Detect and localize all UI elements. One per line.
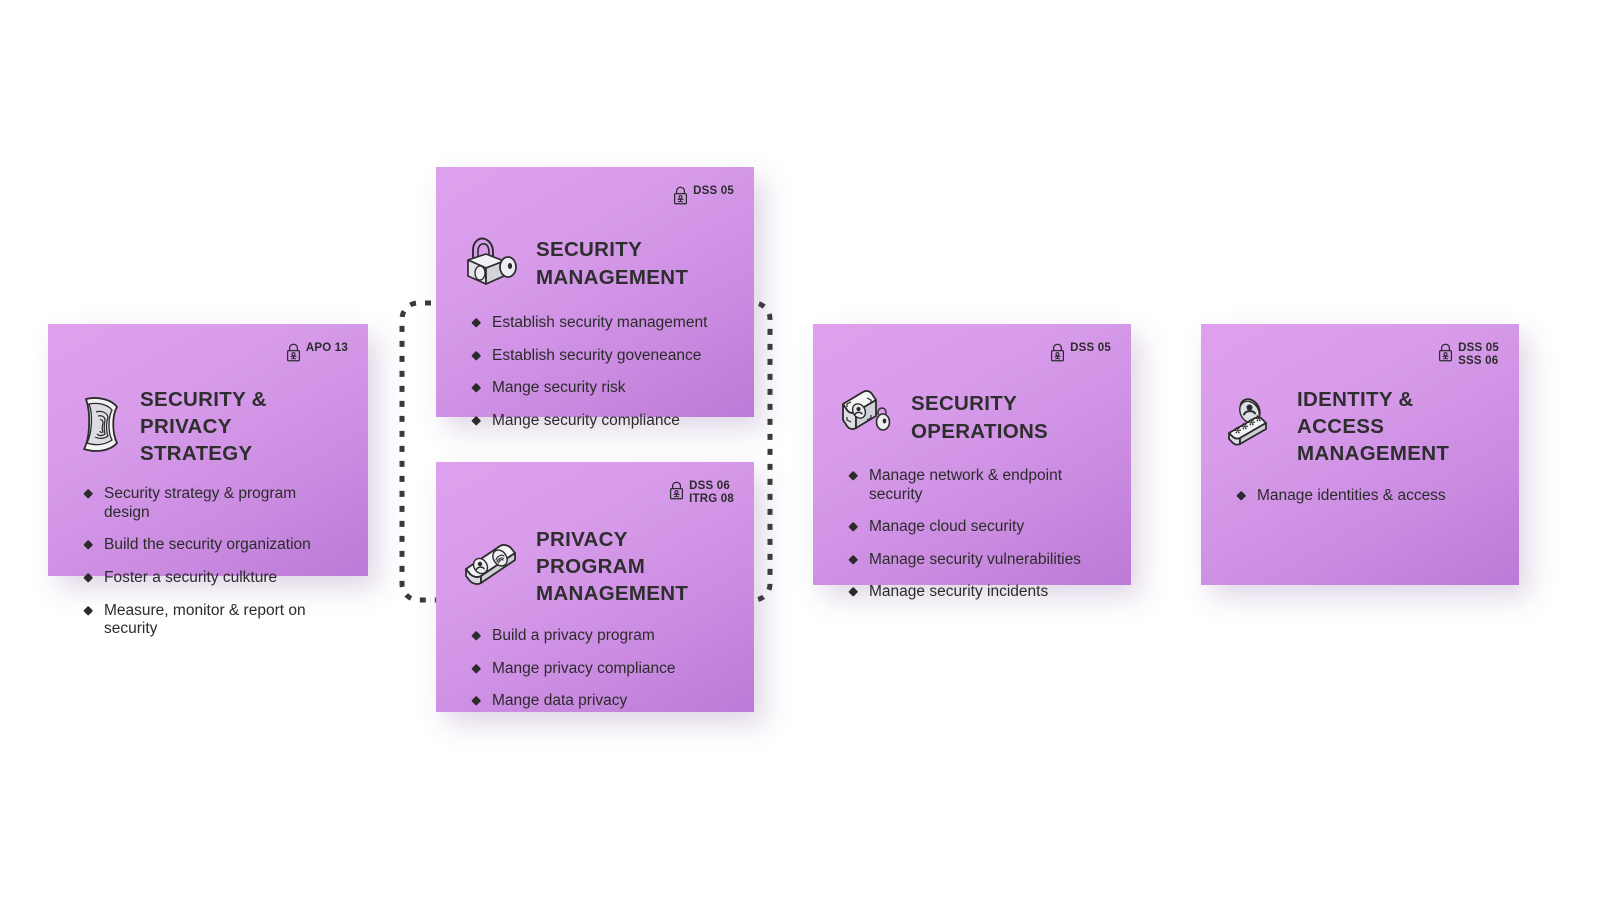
card-security-management[interactable]: DSS 05 SECURITY MANAGEMENT [436, 167, 754, 417]
badge-code: SSS 06 [1458, 355, 1499, 368]
badge-code: DSS 05 [1458, 342, 1499, 355]
list-item-label: Security strategy & program design [104, 485, 346, 522]
card-security-operations[interactable]: DSS 05 SECURITY O [813, 324, 1131, 585]
bullet-list: Build a privacy program Mange privacy co… [460, 627, 732, 725]
badge-code: DSS 05 [693, 185, 734, 198]
list-item-label: Mange data privacy [492, 692, 627, 711]
list-item-label: Mange security risk [492, 379, 626, 398]
bullet-diamond-icon [83, 605, 93, 615]
card-title: IDENTITY & ACCESS MANAGEMENT [1297, 386, 1497, 467]
card-header: ✻ ✻ ✻ ✻ IDENTITY & ACCESS MANAGEMENT [1225, 386, 1497, 467]
id-card-lock-icon [837, 386, 897, 449]
list-item: Manage network & endpoint security [837, 467, 1109, 504]
bullet-diamond-icon [471, 350, 481, 360]
card-header: PRIVACY PROGRAM MANAGEMENT [460, 526, 732, 607]
bullet-list: Security strategy & program design Build… [72, 485, 346, 653]
bullet-diamond-icon [471, 696, 481, 706]
bullet-diamond-icon [848, 587, 858, 597]
bullet-diamond-icon [1236, 491, 1246, 501]
list-item-label: Manage security vulnerabilities [869, 551, 1081, 570]
list-item: Manage security vulnerabilities [837, 551, 1109, 570]
badge-code-list: APO 13 [306, 342, 348, 355]
bullet-list: Manage network & endpoint security Manag… [837, 467, 1109, 616]
badge-security-privacy-strategy: APO 13 [286, 342, 348, 367]
card-title: PRIVACY PROGRAM MANAGEMENT [536, 526, 732, 607]
card-header: SECURITY OPERATIONS [837, 386, 1109, 449]
list-item-label: Manage cloud security [869, 518, 1024, 537]
lock-badge-icon [1438, 343, 1453, 367]
list-item: Measure, monitor & report on security [72, 602, 346, 639]
badge-code: ITRG 08 [689, 493, 734, 506]
fingerprint-scanner-icon [72, 393, 126, 460]
badge-code-list: DSS 05 SSS 06 [1458, 342, 1499, 368]
list-item: Manage identities & access [1225, 487, 1497, 506]
bullet-diamond-icon [83, 489, 93, 499]
list-item: Mange privacy compliance [460, 660, 732, 679]
list-item: Security strategy & program design [72, 485, 346, 522]
list-item-label: Build a privacy program [492, 627, 655, 646]
list-item-label: Manage network & endpoint security [869, 467, 1109, 504]
badge-security-operations: DSS 05 [1050, 342, 1111, 367]
lock-badge-icon [669, 481, 684, 505]
list-item: Build a privacy program [460, 627, 732, 646]
user-password-icon: ✻ ✻ ✻ ✻ [1225, 395, 1283, 458]
diagram-canvas: APO 13 SECURITY & PRIVACY STRATEGY Secur… [0, 0, 1600, 900]
list-item-label: Establish security goveneance [492, 347, 701, 366]
badge-code-list: DSS 06 ITRG 08 [689, 480, 734, 506]
card-title-line-2: PRIVACY STRATEGY [140, 413, 346, 467]
list-item: Manage security incidents [837, 583, 1109, 602]
badge-identity-access-management: DSS 05 SSS 06 [1438, 342, 1499, 368]
card-title-line-2: OPERATIONS [911, 418, 1048, 445]
card-security-privacy-strategy[interactable]: APO 13 SECURITY & PRIVACY STRATEGY Secur… [48, 324, 368, 576]
badge-code: DSS 06 [689, 480, 734, 493]
bullet-diamond-icon [471, 318, 481, 328]
list-item-label: Manage identities & access [1257, 487, 1446, 506]
list-item: Manage cloud security [837, 518, 1109, 537]
list-item-label: Establish security management [492, 314, 707, 333]
bullet-diamond-icon [848, 471, 858, 481]
list-item: Mange security risk [460, 379, 732, 398]
badge-code: DSS 05 [1070, 342, 1111, 355]
card-header: SECURITY & PRIVACY STRATEGY [72, 386, 346, 467]
card-title-line-1: IDENTITY & ACCESS [1297, 386, 1497, 440]
lock-badge-icon [286, 343, 301, 367]
card-header: SECURITY MANAGEMENT [460, 231, 732, 296]
bullet-list: Manage identities & access [1225, 487, 1497, 520]
card-title-line-1: SECURITY [911, 390, 1048, 417]
card-privacy-program-management[interactable]: DSS 06 ITRG 08 PRIVACY PROGRAM [436, 462, 754, 712]
badge-code: APO 13 [306, 342, 348, 355]
card-title-line-2: MANAGEMENT [1297, 440, 1497, 467]
bullet-diamond-icon [471, 383, 481, 393]
card-title-line-1: PRIVACY PROGRAM [536, 526, 732, 580]
badge-security-management: DSS 05 [673, 185, 734, 210]
bullet-diamond-icon [471, 416, 481, 426]
list-item-label: Mange privacy compliance [492, 660, 676, 679]
list-item-label: Measure, monitor & report on security [104, 602, 346, 639]
card-title-line-1: SECURITY [536, 236, 688, 263]
bullet-diamond-icon [83, 540, 93, 550]
lock-badge-icon [1050, 343, 1065, 367]
card-title: SECURITY MANAGEMENT [536, 236, 688, 290]
card-title: SECURITY & PRIVACY STRATEGY [140, 386, 346, 467]
list-item: Establish security management [460, 314, 732, 333]
badge-privacy-program-management: DSS 06 ITRG 08 [669, 480, 734, 506]
list-item-label: Foster a security culkture [104, 569, 277, 588]
list-item: Mange data privacy [460, 692, 732, 711]
badge-code-list: DSS 05 [693, 185, 734, 198]
privacy-badge-icon [460, 536, 522, 597]
padlock-icon [460, 231, 522, 296]
card-title-line-2: MANAGEMENT [536, 264, 688, 291]
bullet-diamond-icon [848, 522, 858, 532]
card-identity-access-management[interactable]: DSS 05 SSS 06 ✻ ✻ ✻ ✻ [1201, 324, 1519, 585]
list-item: Build the security organization [72, 536, 346, 555]
card-title: SECURITY OPERATIONS [911, 390, 1048, 444]
card-title-line-2: MANAGEMENT [536, 580, 732, 607]
card-title-line-1: SECURITY & [140, 386, 346, 413]
badge-code-list: DSS 05 [1070, 342, 1111, 355]
bullet-list: Establish security management Establish … [460, 314, 732, 444]
list-item: Mange security compliance [460, 412, 732, 431]
list-item-label: Manage security incidents [869, 583, 1048, 602]
list-item-label: Build the security organization [104, 536, 311, 555]
bullet-diamond-icon [83, 573, 93, 583]
list-item: Establish security goveneance [460, 347, 732, 366]
list-item-label: Mange security compliance [492, 412, 680, 431]
lock-badge-icon [673, 186, 688, 210]
bullet-diamond-icon [471, 631, 481, 641]
list-item: Foster a security culkture [72, 569, 346, 588]
bullet-diamond-icon [848, 555, 858, 565]
bullet-diamond-icon [471, 664, 481, 674]
